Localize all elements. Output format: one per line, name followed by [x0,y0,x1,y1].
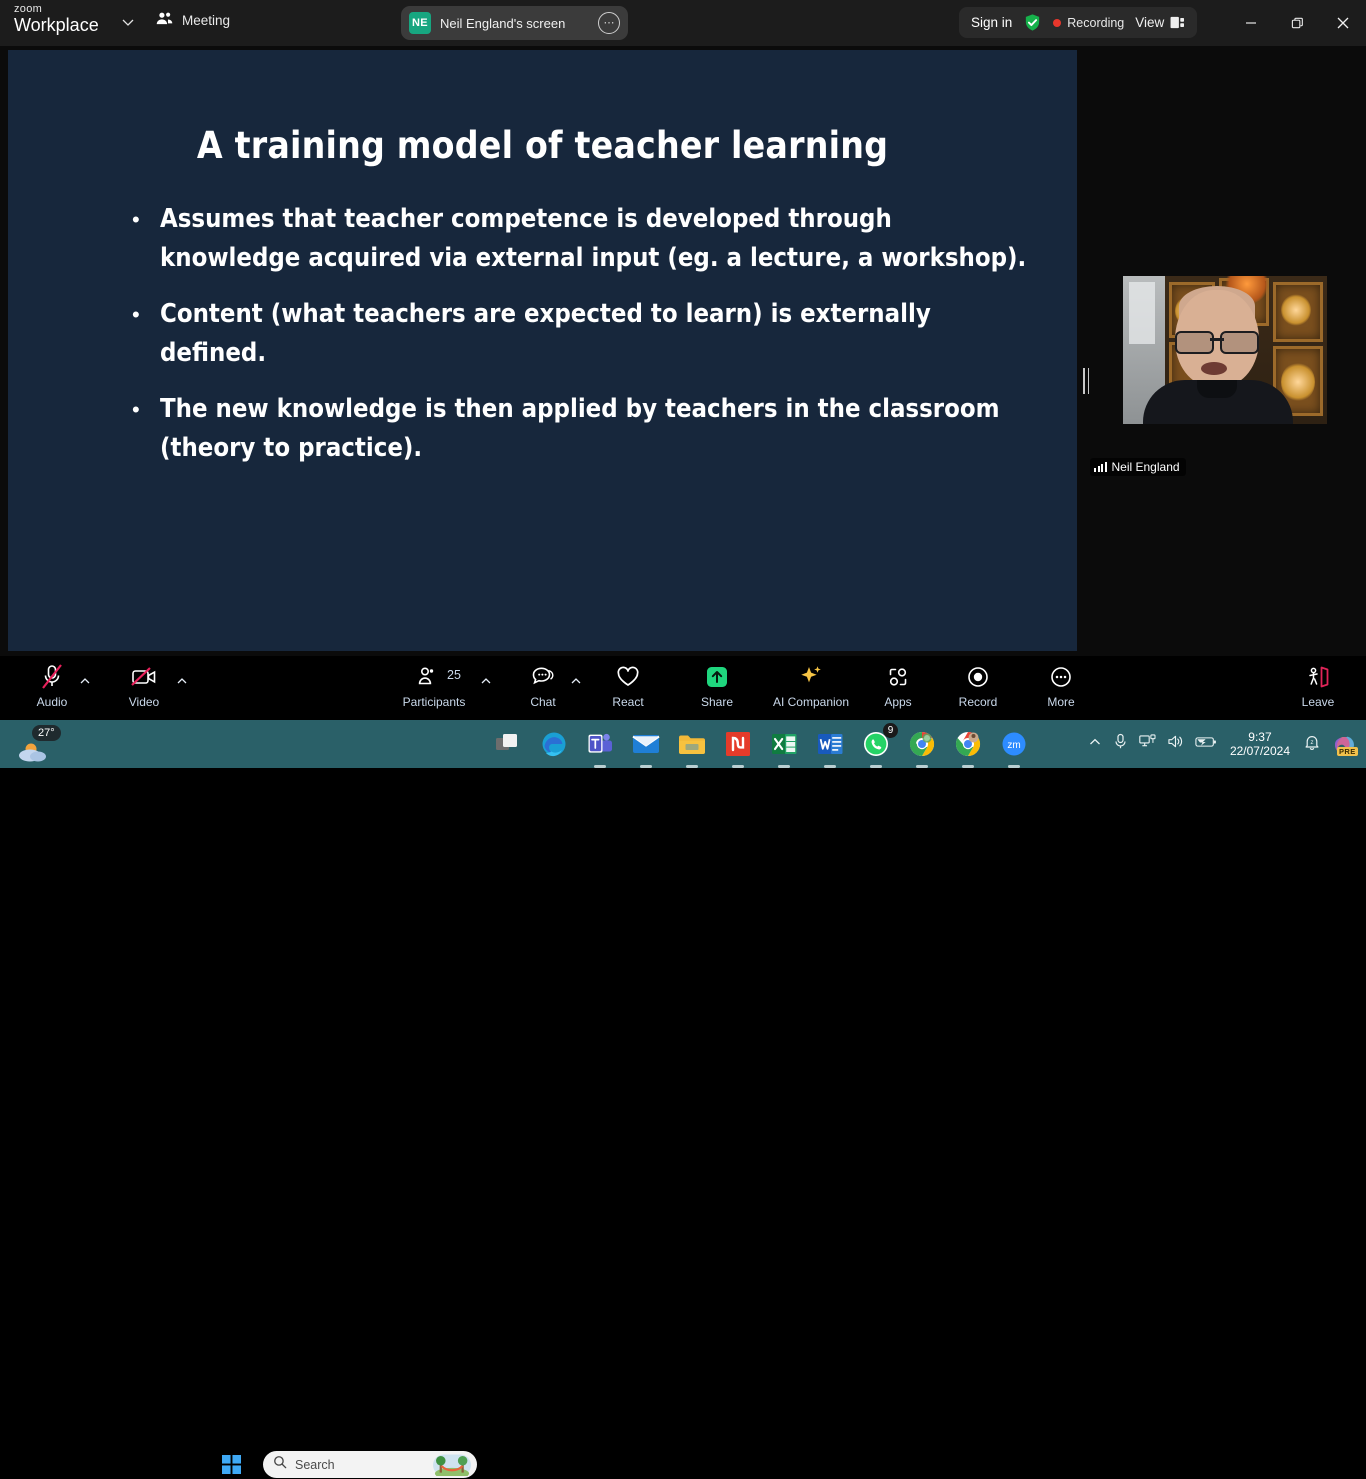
list-item: • Assumes that teacher competence is dev… [132,200,1032,278]
more-options-icon[interactable]: ⋯ [598,12,620,34]
clock-date: 22/07/2024 [1230,744,1290,758]
security-shield-icon[interactable] [1023,13,1042,32]
participant-name-text: Neil England [1112,460,1180,474]
microphone-muted-icon [39,662,65,692]
copilot-icon[interactable]: PRE [1332,732,1358,756]
show-hidden-icons-icon[interactable] [1088,735,1102,754]
chat-bubble-icon [530,662,556,692]
red-app-icon[interactable] [722,728,754,760]
apps-label: Apps [884,695,911,709]
zoom-wordmark: zoom [14,4,99,15]
participant-name-label: Neil England [1090,458,1186,476]
participants-label: Participants [403,695,466,709]
signal-strength-icon [1094,462,1107,472]
meeting-menu[interactable]: Meeting [155,11,230,30]
share-label: Share [701,695,733,709]
mail-icon[interactable] [630,728,662,760]
copilot-preview-badge: PRE [1337,747,1358,756]
search-icon [273,1455,287,1474]
zoom-meeting-toolbar: Audio Video [0,656,1366,720]
ai-companion-label: AI Companion [773,695,849,709]
bullet-text: Content (what teachers are expected to l… [160,295,1032,373]
heart-icon [615,662,641,692]
windows-taskbar: 27° Search [0,720,1366,768]
shared-screen-tab[interactable]: NE Neil England's screen ⋯ [401,6,628,40]
participant-video-tile[interactable] [1123,276,1327,424]
clock[interactable]: 9:37 22/07/2024 [1230,730,1290,758]
search-placeholder: Search [295,1458,335,1472]
leave-label: Leave [1302,695,1335,709]
chrome-icon[interactable] [906,728,938,760]
video-label: Video [129,695,159,709]
apps-button[interactable]: Apps [866,662,930,709]
record-icon [965,662,991,692]
edge-icon[interactable] [538,728,570,760]
share-screen-icon [703,662,731,692]
page-title: A training model of teacher learning [8,124,1077,167]
more-label: More [1047,695,1074,709]
slide-bullet-list: • Assumes that teacher competence is dev… [132,200,1032,485]
shared-screen-stage: A training model of teacher learning • A… [0,46,1366,656]
svg-text:zm: zm [1007,740,1020,751]
recording-indicator[interactable]: Recording [1053,16,1124,30]
hammock-trees-icon [433,1454,471,1476]
list-item: • The new knowledge is then applied by t… [132,390,1032,468]
view-label: View [1135,15,1164,30]
more-button[interactable]: More [1029,662,1093,709]
notifications-silenced-icon[interactable]: z [1303,733,1321,756]
meeting-label: Meeting [182,13,230,28]
microphone-icon[interactable] [1113,733,1128,755]
cloudy-sun-icon [14,740,54,769]
participants-options-caret-icon[interactable] [479,674,493,688]
video-options-caret-icon[interactable] [175,674,189,688]
svg-text:z: z [1311,740,1314,746]
bullet-marker: • [132,295,160,373]
audio-label: Audio [37,695,68,709]
video-person-mouth [1201,362,1227,375]
zoom-icon[interactable]: zm [998,728,1030,760]
titlebar-status-group: Sign in Recording View [959,7,1197,38]
video-button[interactable]: Video [112,662,176,709]
chevron-down-icon[interactable] [120,14,136,30]
minimize-button[interactable] [1228,0,1274,46]
share-button[interactable]: Share [685,662,749,709]
teams-icon[interactable] [584,728,616,760]
avatar: NE [409,12,431,34]
react-button[interactable]: React [596,662,660,709]
apps-icon [885,662,911,692]
leave-door-icon [1304,662,1332,692]
more-dots-icon [1048,662,1074,692]
clock-time: 9:37 [1248,730,1271,744]
layout-view-icon [1170,16,1185,29]
zoom-title-bar: zoom Workplace Meeting NE Neil England's… [0,0,1366,46]
bullet-text: Assumes that teacher competence is devel… [160,200,1032,278]
react-label: React [612,695,643,709]
panel-resize-handle[interactable] [1083,368,1090,394]
excel-icon[interactable] [768,728,800,760]
volume-icon[interactable] [1167,734,1184,754]
list-item: • Content (what teachers are expected to… [132,295,1032,373]
recording-dot-icon [1053,19,1061,27]
bullet-marker: • [132,200,160,278]
view-button[interactable]: View [1135,15,1185,30]
word-icon[interactable] [814,728,846,760]
battery-charging-icon[interactable] [1195,735,1217,754]
search-input[interactable]: Search [263,1451,477,1478]
ai-companion-button[interactable]: AI Companion [765,662,857,709]
record-button[interactable]: Record [946,662,1010,709]
shared-screen-label: Neil England's screen [440,16,565,31]
restore-button[interactable] [1274,0,1320,46]
zoom-workplace-logo: zoom Workplace [14,4,99,34]
windows-start-icon[interactable] [222,1455,241,1479]
record-label: Record [959,695,998,709]
folder-icon[interactable] [676,728,708,760]
bullet-text: The new knowledge is then applied by tea… [160,390,1032,468]
sign-in-button[interactable]: Sign in [971,15,1012,30]
glasses-icon [1175,331,1259,350]
weather-widget[interactable]: 27° [8,724,94,764]
people-icon [155,11,174,30]
workplace-wordmark: Workplace [14,16,99,34]
participants-icon [425,662,443,692]
chrome-icon[interactable] [952,728,984,760]
bullet-marker: • [132,390,160,468]
video-person-collar [1197,380,1237,398]
zoom-meeting-window: zoom Workplace Meeting NE Neil England's… [0,0,1366,768]
whatsapp-icon[interactable]: 9 [860,728,892,760]
camera-muted-icon [129,662,159,692]
audio-button[interactable]: Audio [20,662,84,709]
weather-temperature: 27° [32,725,61,741]
chat-button[interactable]: Chat [511,662,575,709]
task-view-icon[interactable] [492,728,524,760]
whatsapp-badge: 9 [883,723,898,738]
sparkle-icon [797,662,825,692]
close-button[interactable] [1320,0,1366,46]
audio-options-caret-icon[interactable] [78,674,92,688]
taskbar-app-icons: 9 [492,720,1030,768]
chat-label: Chat [530,695,555,709]
chat-options-caret-icon[interactable] [569,674,583,688]
network-icon[interactable] [1139,734,1156,754]
leave-button[interactable]: Leave [1286,662,1350,709]
system-tray: 9:37 22/07/2024 z PRE [1088,720,1358,768]
presentation-slide[interactable]: A training model of teacher learning • A… [8,50,1077,651]
participants-count: 25 [447,668,461,682]
recording-label: Recording [1067,16,1124,30]
